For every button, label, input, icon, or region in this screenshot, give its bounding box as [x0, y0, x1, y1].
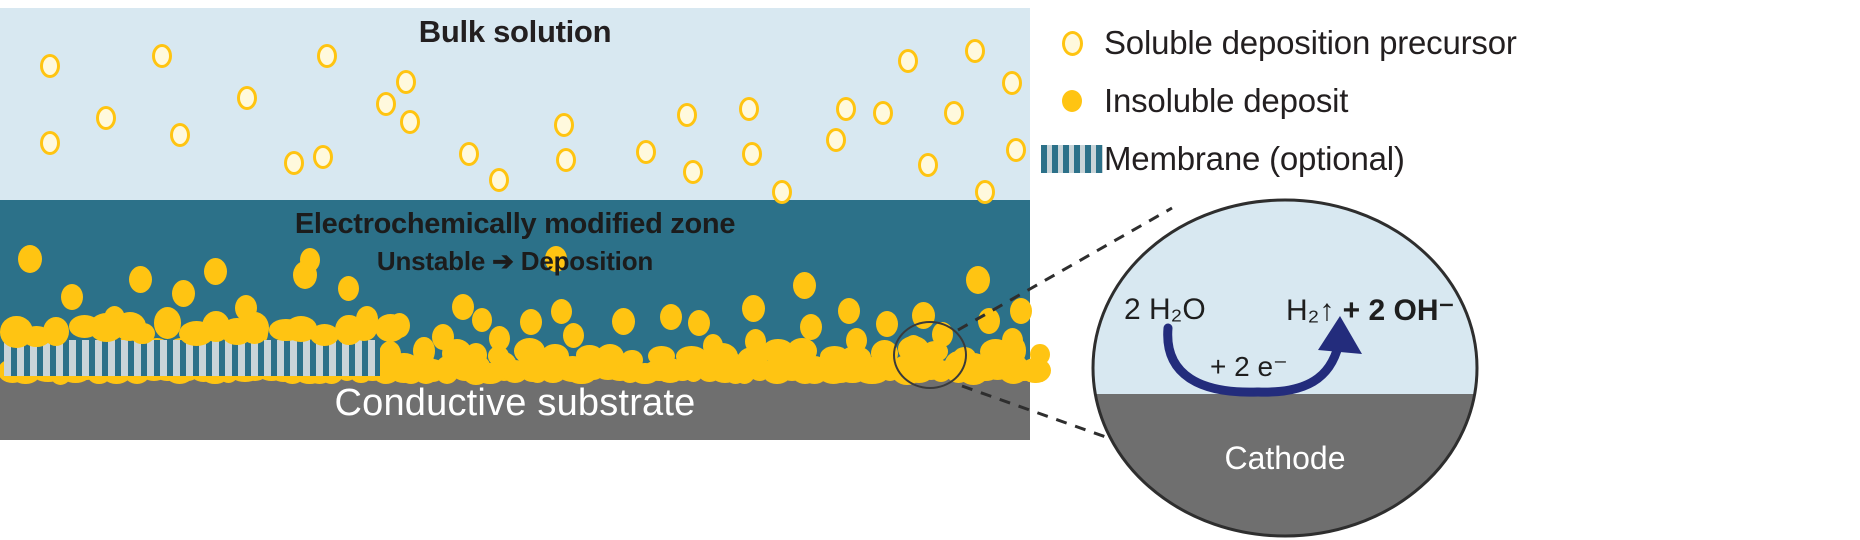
precursor-particle [400, 110, 420, 134]
deposit-crust-particle [413, 337, 434, 365]
deposit-crust-particle [676, 346, 707, 367]
precursor-particle [396, 70, 416, 94]
precursor-particle [237, 86, 257, 110]
deposit-on-membrane [240, 312, 268, 344]
deposit-crust-particle [706, 343, 738, 370]
deposit-particle [563, 323, 584, 348]
deposit-on-membrane [351, 317, 377, 340]
deposit-crust-particle [648, 346, 675, 366]
callout-product: H₂↑ + 2 OH⁻ [1286, 293, 1454, 328]
precursor-particle [636, 140, 656, 164]
precursor-particle [836, 97, 856, 121]
legend-label-precursor: Soluble deposition precursor [1104, 24, 1517, 62]
conductive-substrate-label: Conductive substrate [0, 382, 1030, 425]
precursor-particle [944, 101, 964, 125]
callout-product-h2: H₂ [1286, 294, 1319, 327]
deposit-particle [452, 294, 474, 320]
electrodeposition-schematic: Bulk solution Electrochemically modified… [0, 8, 1030, 440]
precursor-particle [313, 145, 333, 169]
deposit-particle [800, 314, 822, 340]
legend: Soluble deposition precursor Insoluble d… [1040, 14, 1850, 188]
modified-zone-sublabel: Unstable ➔ Deposition [0, 246, 1030, 277]
deposit-particle [551, 299, 572, 324]
striped-membrane-icon [1040, 145, 1104, 173]
callout-electrons: + 2 e⁻ [1210, 350, 1288, 383]
deposit-particle [172, 280, 195, 307]
legend-item-membrane: Membrane (optional) [1040, 130, 1850, 188]
deposit-crust-particle [787, 338, 817, 364]
callout-cathode-label: Cathode [1090, 440, 1480, 477]
deposit-particle [876, 311, 898, 337]
legend-item-precursor: Soluble deposition precursor [1040, 14, 1850, 72]
precursor-particle [739, 97, 759, 121]
callout-product-oh: + 2 OH⁻ [1343, 294, 1455, 327]
cathode-callout: 2 H₂O H₂↑ + 2 OH⁻ + 2 e⁻ Cathode [1090, 198, 1480, 538]
precursor-particle [742, 142, 762, 166]
precursor-particle [1006, 138, 1026, 162]
precursor-particle [683, 160, 703, 184]
deposit-particle [688, 310, 710, 336]
bulk-solution-label: Bulk solution [0, 14, 1030, 50]
precursor-particle [284, 151, 304, 175]
deposit-crust-particle [840, 346, 871, 368]
open-circle-icon [1040, 31, 1104, 56]
precursor-particle [554, 113, 574, 137]
precursor-particle [376, 92, 396, 116]
deposit-crust-particle [514, 338, 545, 364]
up-arrow-icon: ↑ [1319, 294, 1334, 327]
deposit-on-membrane [154, 307, 181, 338]
legend-label-deposit: Insoluble deposit [1104, 82, 1348, 120]
deposit-particle [338, 276, 359, 301]
deposit-crust-particle [596, 344, 624, 369]
deposit-particle [61, 284, 83, 310]
precursor-particle [170, 123, 190, 147]
deposit-particle [838, 298, 860, 324]
precursor-particle [489, 168, 509, 192]
precursor-particle [40, 54, 60, 78]
precursor-particle [96, 106, 116, 130]
deposit-on-membrane [375, 314, 406, 342]
callout-reactant: 2 H₂O [1124, 293, 1206, 327]
deposit-on-membrane [130, 323, 154, 345]
precursor-particle [898, 49, 918, 73]
precursor-particle [873, 101, 893, 125]
diagram-canvas: Bulk solution Electrochemically modified… [0, 0, 1860, 540]
deposit-crust-particle [488, 346, 509, 366]
deposit-particle [742, 295, 765, 322]
precursor-particle [556, 148, 576, 172]
deposit-particle [660, 304, 682, 330]
precursor-particle [772, 180, 792, 204]
deposit-particle [612, 308, 635, 335]
legend-label-membrane: Membrane (optional) [1104, 140, 1405, 178]
deposit-crust-particle [621, 350, 642, 370]
modified-zone-label: Electrochemically modified zone [0, 208, 1030, 241]
filled-circle-icon [1040, 90, 1104, 112]
deposit-crust-particle [541, 344, 568, 368]
deposit-particle [472, 308, 492, 332]
precursor-particle [677, 103, 697, 127]
precursor-particle [40, 131, 60, 155]
precursor-particle [1002, 71, 1022, 95]
legend-item-deposit: Insoluble deposit [1040, 72, 1850, 130]
precursor-particle [826, 128, 846, 152]
precursor-particle [918, 153, 938, 177]
precursor-particle [459, 142, 479, 166]
deposit-particle [520, 309, 542, 335]
